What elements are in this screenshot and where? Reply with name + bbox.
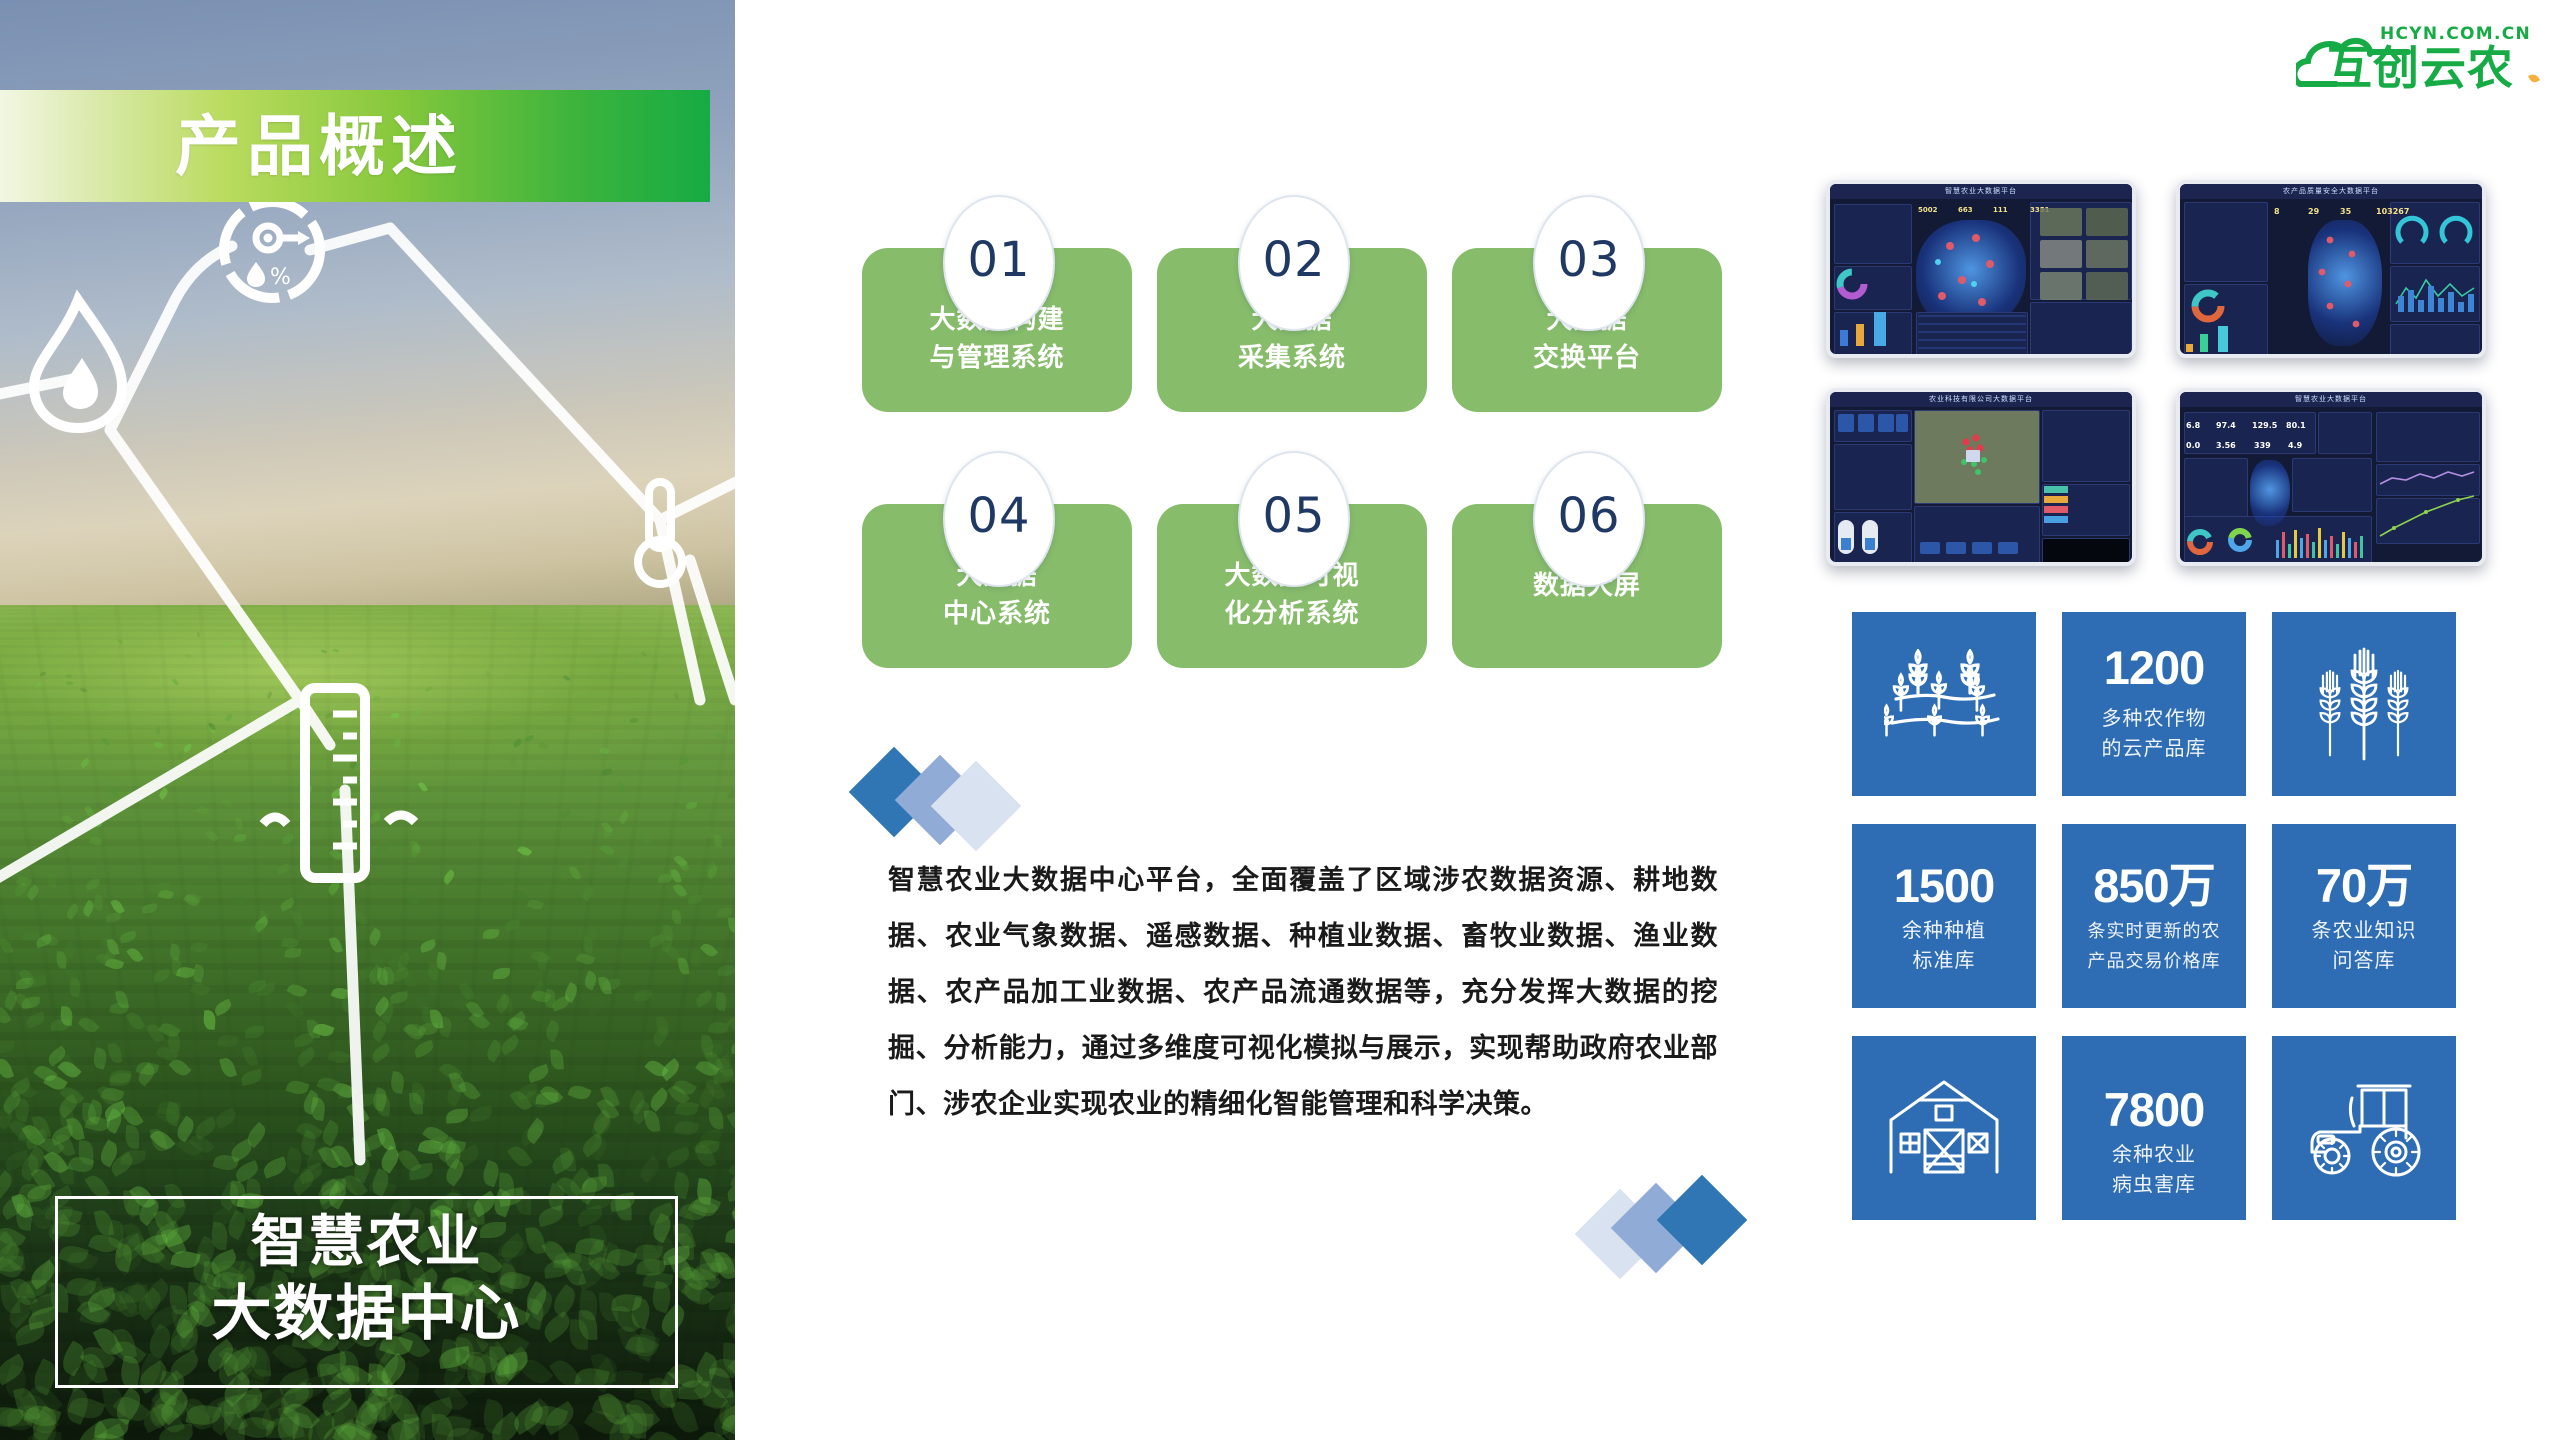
stat-tile-1200-caption: 多种农作物的云产品库 — [2062, 704, 2246, 764]
module-badge-01: 01 — [943, 195, 1055, 331]
barn-icon — [1852, 1036, 2036, 1220]
ruler-icon — [263, 688, 415, 878]
svg-text:111: 111 — [1993, 206, 2008, 214]
wheat-icon — [2272, 612, 2456, 796]
module-badge-05-number: 05 — [1262, 488, 1325, 544]
stat-tile-barn — [1852, 1036, 2036, 1220]
dashboard-screenshot-grid: 智慧农业大数据平台 5002663 1113351 — [1826, 180, 2486, 570]
module-badge-03: 03 — [1533, 195, 1645, 331]
stat-tile-wheat — [2272, 612, 2456, 796]
module-badge-02-number: 02 — [1262, 232, 1325, 288]
module-badge-03-number: 03 — [1557, 232, 1620, 288]
brand-url: HCYN.COM.CN — [2380, 24, 2531, 44]
svg-text:6.8: 6.8 — [2186, 421, 2201, 430]
module-card-grid: 大数据构建与管理系统 01 大数据采集系统 02 大数据交换平台 03 大数据中… — [862, 195, 1722, 685]
svg-text:5002: 5002 — [1918, 206, 1938, 214]
stat-tile-tractor — [2272, 1036, 2456, 1220]
stat-tile-70w-number: 70万 — [2272, 860, 2456, 912]
stat-tile-grid: 1200 多种农作物的云产品库 — [1852, 612, 2456, 1220]
svg-text:29: 29 — [2308, 207, 2320, 216]
slide-root: % 产品概述 智慧农业 — [0, 0, 2560, 1440]
tractor-icon — [2272, 1036, 2456, 1220]
stat-tile-1500: 1500 余种种植标准库 — [1852, 824, 2036, 1008]
brand-logo[interactable]: HCYN.COM.CN 互创云农 — [2296, 18, 2546, 106]
stat-tile-70w: 70万 条农业知识问答库 — [2272, 824, 2456, 1008]
svg-text:97.4: 97.4 — [2216, 421, 2236, 430]
dashboard-screenshot-1[interactable]: 智慧农业大数据平台 5002663 1113351 — [1826, 180, 2136, 358]
svg-text:129.5: 129.5 — [2252, 421, 2278, 430]
svg-text:80.1: 80.1 — [2286, 421, 2306, 430]
stat-tile-1200-number: 1200 — [2062, 642, 2246, 694]
stat-tile-crop-field — [1852, 612, 2036, 796]
stat-tile-850w-number: 850万 — [2062, 860, 2246, 912]
svg-text:35: 35 — [2340, 207, 2352, 216]
overview-paragraph: 智慧农业大数据中心平台，全面覆盖了区域涉农数据资源、耕地数据、农业气象数据、遥感… — [888, 852, 1718, 1132]
svg-text:3.56: 3.56 — [2216, 441, 2236, 450]
module-badge-01-number: 01 — [967, 232, 1030, 288]
stat-tile-7800-number: 7800 — [2062, 1084, 2246, 1136]
module-badge-06: 06 — [1533, 451, 1645, 587]
stat-tile-850w-caption: 条实时更新的农产品交易价格库 — [2062, 916, 2246, 976]
brand-name: 互创云农 — [2326, 42, 2514, 94]
hero-title-line1: 智慧农业 — [55, 1206, 678, 1278]
hero-panel: % 产品概述 智慧农业 — [0, 0, 735, 1440]
diamond-decoration-bottom — [1578, 1178, 1778, 1268]
dashboard-screenshot-4[interactable]: 智慧农业大数据平台 6.897.4129.580.1 0.03.563394.9 — [2176, 388, 2486, 566]
diamond-decoration-top — [852, 750, 1052, 840]
hero-title-line2: 大数据中心 — [55, 1278, 678, 1350]
module-badge-04: 04 — [943, 451, 1055, 587]
svg-text:4.9: 4.9 — [2288, 441, 2303, 450]
dashboard-screenshot-2[interactable]: 农产品质量安全大数据平台 82935103267 — [2176, 180, 2486, 358]
crop-field-icon — [1852, 612, 2036, 796]
stat-tile-1200: 1200 多种农作物的云产品库 — [2062, 612, 2246, 796]
module-badge-02: 02 — [1238, 195, 1350, 331]
dashboard-screenshot-3[interactable]: 农业科技有限公司大数据平台 — [1826, 388, 2136, 566]
svg-text:0.0: 0.0 — [2186, 441, 2201, 450]
svg-text:103267: 103267 — [2376, 207, 2409, 216]
hero-title: 智慧农业 大数据中心 — [55, 1206, 678, 1350]
svg-text:%: % — [270, 265, 291, 290]
stat-tile-1500-number: 1500 — [1852, 860, 2036, 912]
water-drop-icon — [34, 300, 122, 428]
stat-tile-7800-caption: 余种农业病虫害库 — [2062, 1140, 2246, 1200]
stat-tile-850w: 850万 条实时更新的农产品交易价格库 — [2062, 824, 2246, 1008]
svg-text:339: 339 — [2254, 441, 2271, 450]
module-badge-05: 05 — [1238, 451, 1350, 587]
stat-tile-7800: 7800 余种农业病虫害库 — [2062, 1036, 2246, 1220]
module-badge-06-number: 06 — [1557, 488, 1620, 544]
module-badge-04-number: 04 — [967, 488, 1030, 544]
stat-tile-1500-caption: 余种种植标准库 — [1852, 916, 2036, 976]
svg-text:8: 8 — [2274, 207, 2280, 216]
stat-tile-70w-caption: 条农业知识问答库 — [2272, 916, 2456, 976]
svg-text:663: 663 — [1958, 206, 1973, 214]
section-banner-title: 产品概述 — [175, 104, 463, 188]
